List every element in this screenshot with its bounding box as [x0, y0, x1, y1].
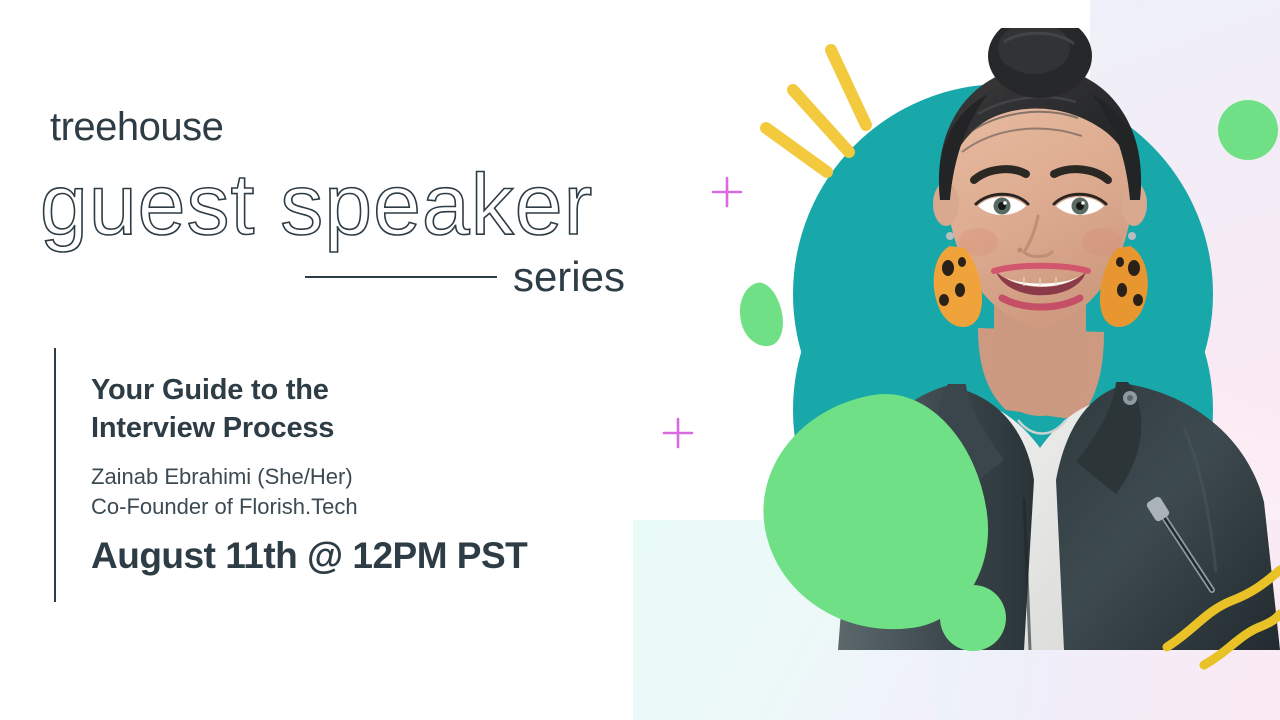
- speaker-name: Zainab Ebrahimi (She/Her): [91, 462, 353, 493]
- circle-shape-icon-bottom: [940, 585, 1006, 651]
- organic-blob-icon-small: [733, 279, 789, 351]
- headline-outline-text: guest speaker: [40, 160, 593, 250]
- talk-title: Your Guide to the Interview Process: [91, 371, 334, 448]
- content-column: treehouse guest speaker series Your Guid…: [0, 0, 680, 720]
- vertical-accent-rule: [54, 348, 56, 602]
- talk-title-line-2: Interview Process: [91, 409, 334, 447]
- event-datetime: August 11th @ 12PM PST: [91, 536, 527, 577]
- series-label: series: [513, 256, 625, 298]
- talk-title-line-1: Your Guide to the: [91, 371, 334, 409]
- brand-wordmark: treehouse: [50, 107, 223, 147]
- series-divider-rule: [305, 276, 497, 278]
- series-row: series: [305, 256, 625, 298]
- speaker-role: Co-Founder of Florish.Tech: [91, 492, 358, 523]
- promo-banner: treehouse guest speaker series Your Guid…: [0, 0, 1280, 720]
